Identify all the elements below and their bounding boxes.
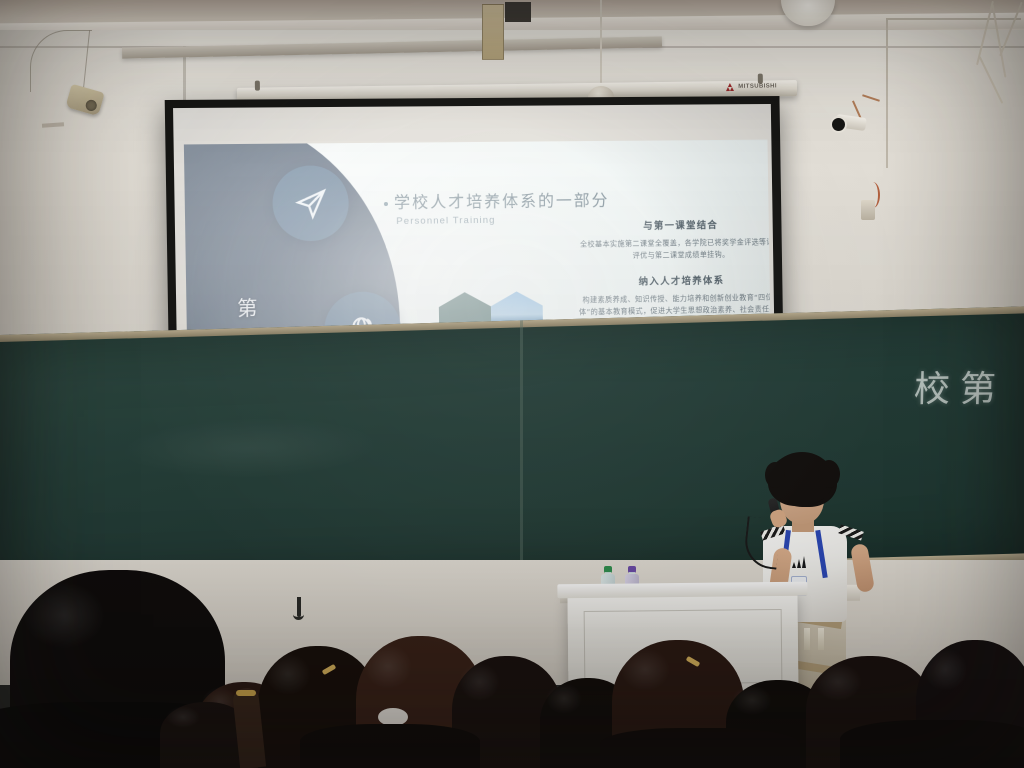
housing-brand-text: MITSUBISHI [738,83,777,90]
blackboard-chalk-text: 校第 [913,360,1006,412]
wall-bracket-shadow [505,2,531,22]
bullet-dot-icon [384,201,388,205]
housing-brand-label: MITSUBISHI [726,82,777,91]
bracelet-icon [236,690,256,696]
slide-title: 学校人才培养体系的一部分 [384,187,610,213]
audience-shoulder [600,728,800,768]
wall-socket [861,200,875,220]
wire-bundle [978,0,1024,112]
section-heading: 纳入人才培养体系 [577,271,773,288]
section-body: 全校基本实施第二课堂全覆盖，各学院已将奖学金评选等评奖评优与第二课堂成绩单挂钩。 [576,236,772,263]
wall-conduit [886,18,888,168]
audience-shoulder [840,720,1024,768]
hanging-cable [600,0,602,88]
camera-lens-icon [832,118,845,131]
slide-section: 与第一课堂结合 全校基本实施第二课堂全覆盖，各学院已将奖学金评选等评奖评优与第二… [576,216,773,263]
lecture-hall-scene: MITSUBISHI 第二课堂 [0,0,1024,768]
three-diamond-icon [726,83,735,91]
housing-hook-left [255,81,260,91]
audience-shoulder [300,724,480,768]
wall-bracket [482,4,504,60]
audience [0,508,1024,768]
slide-title-text: 学校人才培养体系的一部分 [394,191,610,212]
section-heading: 与第一课堂结合 [576,216,773,232]
presenter-hair [771,452,833,504]
chalk-smudge [120,414,380,481]
